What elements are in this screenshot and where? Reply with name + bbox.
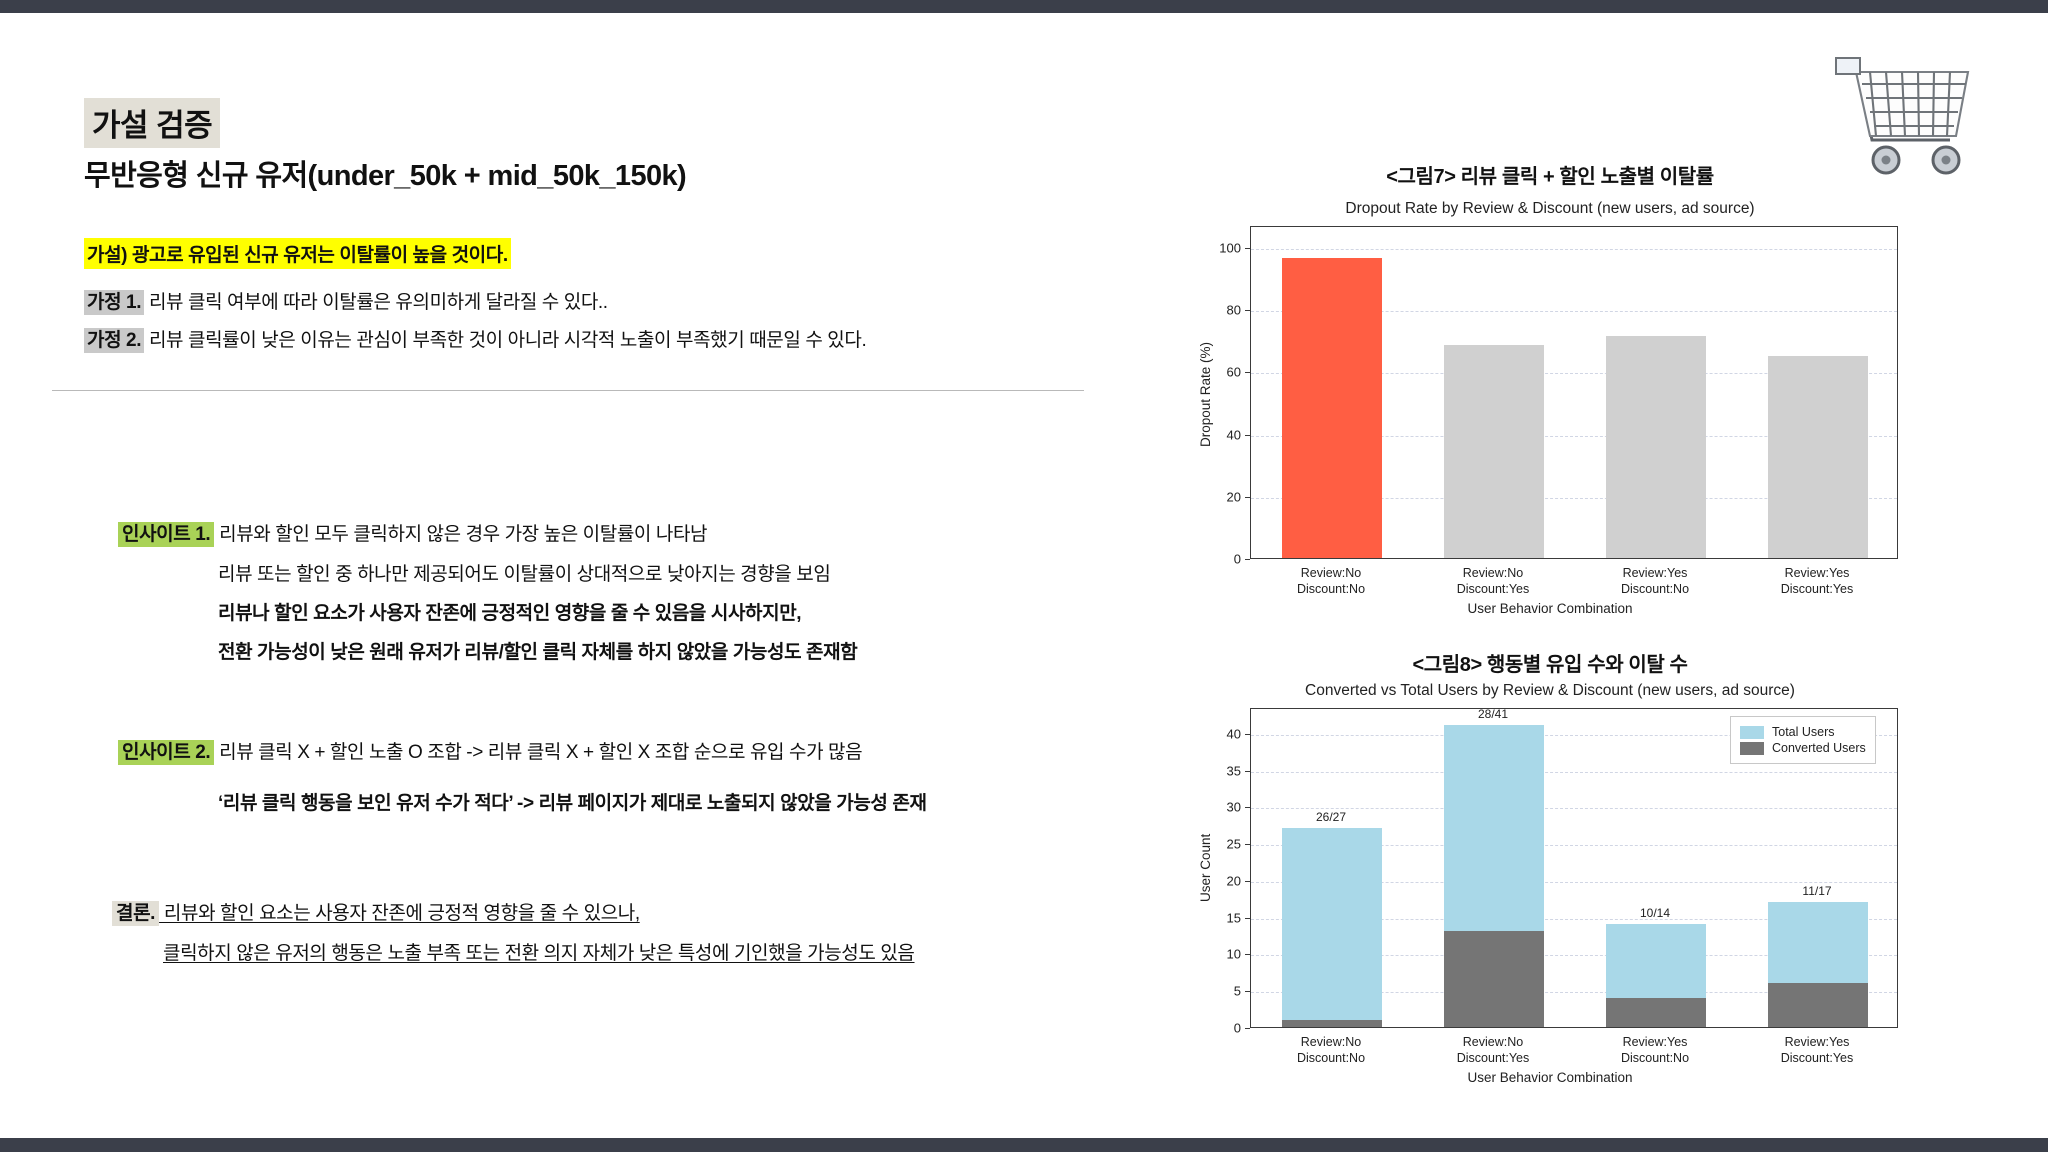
assumption-1-text: 리뷰 클릭 여부에 따라 이탈률은 유의미하게 달라질 수 있다.. xyxy=(144,292,608,313)
y-axis-tick-label: 0 xyxy=(1234,1021,1241,1036)
bar xyxy=(1606,336,1706,558)
conclusion: 결론. 리뷰와 할인 요소는 사용자 잔존에 긍정적 영향을 줄 수 있으나, xyxy=(112,898,640,925)
y-axis-tick-label: 35 xyxy=(1227,763,1241,778)
conclusion-line-2: 클릭하지 않은 유저의 행동은 노출 부족 또는 전환 의지 자체가 낮은 특성… xyxy=(163,938,915,965)
y-axis-tick-mark xyxy=(1245,248,1250,249)
bar-segment xyxy=(1768,983,1868,1027)
x-axis-tick-label: Review:No Discount:No xyxy=(1250,566,1412,597)
y-axis-tick-mark xyxy=(1245,559,1250,560)
insight-1-line-1: 리뷰와 할인 모두 클릭하지 않은 경우 가장 높은 이탈률이 나타남 xyxy=(214,524,707,545)
x-axis-tick-label: Review:No Discount:Yes xyxy=(1412,566,1574,597)
bar-segment xyxy=(1444,931,1544,1027)
y-axis-title: Dropout Rate (%) xyxy=(1198,342,1213,447)
bar xyxy=(1282,258,1382,558)
y-axis-tick-mark xyxy=(1245,497,1250,498)
legend-label: Total Users xyxy=(1772,725,1835,739)
chart-dropout-rate: Dropout Rate by Review & Discount (new u… xyxy=(1180,200,1920,620)
y-axis-tick-label: 10 xyxy=(1227,947,1241,962)
bar-segment xyxy=(1606,998,1706,1027)
legend-swatch xyxy=(1740,742,1764,755)
assumption-2-text: 리뷰 클릭률이 낮은 이유는 관심이 부족한 것이 아니라 시각적 노출이 부족… xyxy=(144,330,866,351)
y-axis-tick-label: 100 xyxy=(1219,240,1241,255)
bar-value-label: 26/27 xyxy=(1316,810,1346,824)
y-axis-tick-mark xyxy=(1245,918,1250,919)
insight-1-tag: 인사이트 1. xyxy=(118,522,214,547)
y-axis-tick-mark xyxy=(1245,1028,1250,1029)
assumption-1-tag: 가정 1. xyxy=(84,290,144,315)
bar xyxy=(1768,356,1868,558)
insight-1: 인사이트 1. 리뷰와 할인 모두 클릭하지 않은 경우 가장 높은 이탈률이 … xyxy=(118,519,707,546)
y-axis-tick-label: 20 xyxy=(1227,873,1241,888)
gridline xyxy=(1251,808,1897,809)
y-axis-tick-label: 40 xyxy=(1227,427,1241,442)
y-axis-tick-mark xyxy=(1245,310,1250,311)
page-title: 가설 검증 xyxy=(84,98,220,148)
section-divider xyxy=(52,390,1084,391)
assumption-2: 가정 2. 리뷰 클릭률이 낮은 이유는 관심이 부족한 것이 아니라 시각적 … xyxy=(84,325,866,352)
y-axis-tick-mark xyxy=(1245,991,1250,992)
x-axis-tick-label: Review:No Discount:Yes xyxy=(1412,1035,1574,1066)
y-axis-tick-label: 15 xyxy=(1227,910,1241,925)
x-axis-tick-label: Review:Yes Discount:No xyxy=(1574,566,1736,597)
y-axis-tick-mark xyxy=(1245,954,1250,955)
bar-segment xyxy=(1282,828,1382,1027)
y-axis-tick-mark xyxy=(1245,734,1250,735)
chart-converted-vs-total: Converted vs Total Users by Review & Dis… xyxy=(1180,682,1920,1102)
bar-segment xyxy=(1282,1020,1382,1027)
figure-8-caption: <그림8> 행동별 유입 수와 이탈 수 xyxy=(1180,648,1920,677)
y-axis-tick-mark xyxy=(1245,771,1250,772)
bar-value-label: 10/14 xyxy=(1640,906,1670,920)
x-axis-title: User Behavior Combination xyxy=(1180,1070,1920,1085)
legend-item: Converted Users xyxy=(1740,741,1866,755)
x-axis-tick-label: Review:Yes Discount:Yes xyxy=(1736,1035,1898,1066)
insight-2-line-2: ‘리뷰 클릭 행동을 보인 유저 수가 적다’ -> 리뷰 페이지가 제대로 노… xyxy=(218,788,927,815)
x-axis-title: User Behavior Combination xyxy=(1180,601,1920,616)
figure-7-caption: <그림7> 리뷰 클릭 + 할인 노출별 이탈률 xyxy=(1180,160,1920,189)
chart-legend: Total UsersConverted Users xyxy=(1730,716,1876,764)
bar-value-label: 11/17 xyxy=(1802,884,1831,898)
x-axis-tick-label: Review:No Discount:No xyxy=(1250,1035,1412,1066)
insight-2-tag: 인사이트 2. xyxy=(118,740,214,765)
insight-1-line-4: 전환 가능성이 낮은 원래 유저가 리뷰/할인 클릭 자체를 하지 않았을 가능… xyxy=(218,637,857,664)
insight-1-line-2: 리뷰 또는 할인 중 하나만 제공되어도 이탈률이 상대적으로 낮아지는 경향을… xyxy=(218,559,830,586)
y-axis-tick-label: 5 xyxy=(1234,984,1241,999)
insight-2: 인사이트 2. 리뷰 클릭 X + 할인 노출 O 조합 -> 리뷰 클릭 X … xyxy=(118,737,862,764)
conclusion-tag: 결론. xyxy=(112,901,159,926)
legend-item: Total Users xyxy=(1740,725,1866,739)
y-axis-tick-mark xyxy=(1245,807,1250,808)
y-axis-title: User Count xyxy=(1198,834,1213,902)
bar-value-label: 28/41 xyxy=(1478,707,1508,721)
y-axis-tick-mark xyxy=(1245,844,1250,845)
gridline xyxy=(1251,249,1897,250)
y-axis-tick-mark xyxy=(1245,435,1250,436)
legend-swatch xyxy=(1740,726,1764,739)
y-axis-tick-label: 0 xyxy=(1234,552,1241,567)
x-axis-tick-label: Review:Yes Discount:No xyxy=(1574,1035,1736,1066)
x-axis-tick-label: Review:Yes Discount:Yes xyxy=(1736,566,1898,597)
insight-2-line-1: 리뷰 클릭 X + 할인 노출 O 조합 -> 리뷰 클릭 X + 할인 X 조… xyxy=(214,742,862,763)
chart-1-title: Dropout Rate by Review & Discount (new u… xyxy=(1180,200,1920,218)
conclusion-line-1: 리뷰와 할인 요소는 사용자 잔존에 긍정적 영향을 줄 수 있으나, xyxy=(159,903,640,924)
page-subtitle: 무반응형 신규 유저(under_50k + mid_50k_150k) xyxy=(84,152,686,194)
bar xyxy=(1444,345,1544,558)
gridline xyxy=(1251,772,1897,773)
chart-2-title: Converted vs Total Users by Review & Dis… xyxy=(1180,682,1920,700)
insight-1-line-3: 리뷰나 할인 요소가 사용자 잔존에 긍정적인 영향을 줄 수 있음을 시사하지… xyxy=(218,598,801,625)
y-axis-tick-label: 80 xyxy=(1227,303,1241,318)
y-axis-tick-label: 20 xyxy=(1227,489,1241,504)
assumption-2-tag: 가정 2. xyxy=(84,328,144,353)
left-content-column: 가설 검증 무반응형 신규 유저(under_50k + mid_50k_150… xyxy=(0,0,1120,1152)
assumption-1: 가정 1. 리뷰 클릭 여부에 따라 이탈률은 유의미하게 달라질 수 있다.. xyxy=(84,287,608,314)
y-axis-tick-label: 25 xyxy=(1227,837,1241,852)
y-axis-tick-label: 30 xyxy=(1227,800,1241,815)
y-axis-tick-label: 40 xyxy=(1227,726,1241,741)
legend-label: Converted Users xyxy=(1772,741,1866,755)
y-axis-tick-label: 60 xyxy=(1227,365,1241,380)
hypothesis-statement: 가설) 광고로 유입된 신규 유저는 이탈률이 높을 것이다. xyxy=(84,238,511,269)
plot-area xyxy=(1250,226,1898,559)
y-axis-tick-mark xyxy=(1245,372,1250,373)
y-axis-tick-mark xyxy=(1245,881,1250,882)
